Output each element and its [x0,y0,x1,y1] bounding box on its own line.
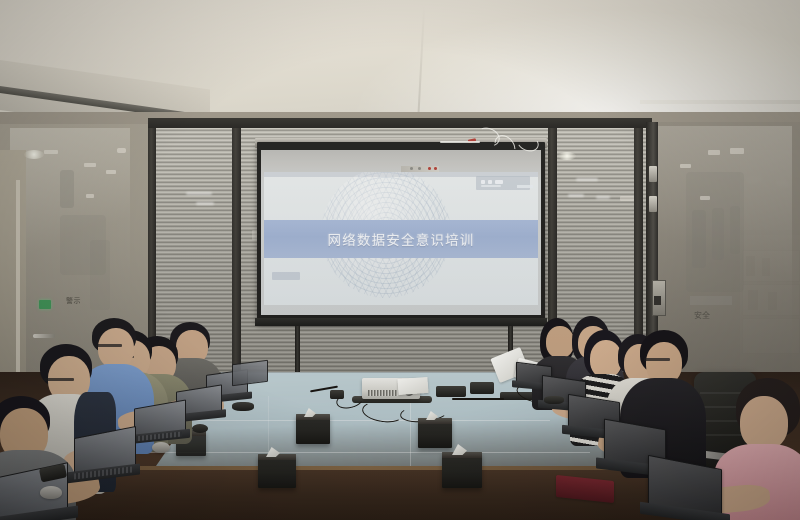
logo-mark [488,180,492,184]
glass-reflection-shape [692,210,706,268]
mouse[interactable] [152,442,170,453]
door-hinge [649,196,657,212]
conference-mic[interactable] [544,396,564,404]
head [740,396,788,450]
blinds-highlight [568,194,584,197]
head [546,326,574,358]
light-reflection [117,148,126,153]
downlight [558,152,576,160]
glass-sticker-left: 警示 [66,296,92,308]
slide-content: 网络数据安全意识培训 [264,172,538,305]
blinds-highlight [196,202,214,205]
indicator-led [410,167,413,170]
light-reflection [86,194,94,198]
logo-mark [481,185,501,187]
eyeglasses [44,378,74,381]
eyeglasses [644,358,670,361]
logo-mark [481,180,485,184]
indicator-led [418,167,421,170]
light-reflection [708,150,720,155]
light-reflection [730,148,744,154]
window-header [148,118,652,128]
door-frame-left [16,180,20,400]
mouse[interactable] [192,424,208,433]
light-reflection [680,164,691,168]
blinds-highlight [576,178,598,181]
av-equipment [436,386,466,397]
screen-bottom-bar [255,318,547,326]
light-reflection [84,163,96,167]
door-handle-left[interactable] [33,334,55,338]
slide-logo [476,176,530,190]
glass-reflection-shape [712,208,724,260]
document-on-table [397,377,428,395]
eyeglasses [96,344,122,347]
cable-run [440,141,480,143]
projector-vent [368,390,398,396]
indicator-led [428,167,431,170]
glass-smudge [90,240,110,310]
glass-smudge [60,170,74,208]
mouse[interactable] [40,486,62,499]
light-reflection [44,150,58,154]
av-equipment [470,382,494,394]
wall-fixture [620,196,634,201]
slide-footer-chip [272,272,300,280]
table-seam [268,396,269,456]
glass-door-vent [690,296,732,305]
glass-reflection-shape [730,206,740,254]
logo-mark [495,180,503,184]
cable-run [452,398,504,400]
blinds-highlight [596,196,610,199]
downlight [24,150,44,159]
indicator-led [434,167,437,170]
exit-sign [39,300,51,309]
laptop-screen[interactable] [232,360,268,386]
logo-underline [517,185,533,188]
slide-title: 网络数据安全意识培训 [328,229,475,249]
wall-left [0,150,26,400]
door-hinge [649,166,657,182]
conference-mic[interactable] [232,402,254,411]
glass-sticker-right: 安全 [694,310,710,321]
light-reflection [700,196,710,200]
meeting-room-photo: 警示 安全 [0,0,800,520]
window-mullion [232,120,241,388]
wall-switch-button[interactable] [654,296,661,305]
head [98,328,134,368]
light-reflection [106,170,116,174]
table-seam [150,420,550,421]
slide-title-band: 网络数据安全意识培训 [264,220,538,258]
ceiling-glow [330,0,800,128]
ceiling-edge-highlight [640,100,800,104]
blinds-highlight [186,192,212,195]
